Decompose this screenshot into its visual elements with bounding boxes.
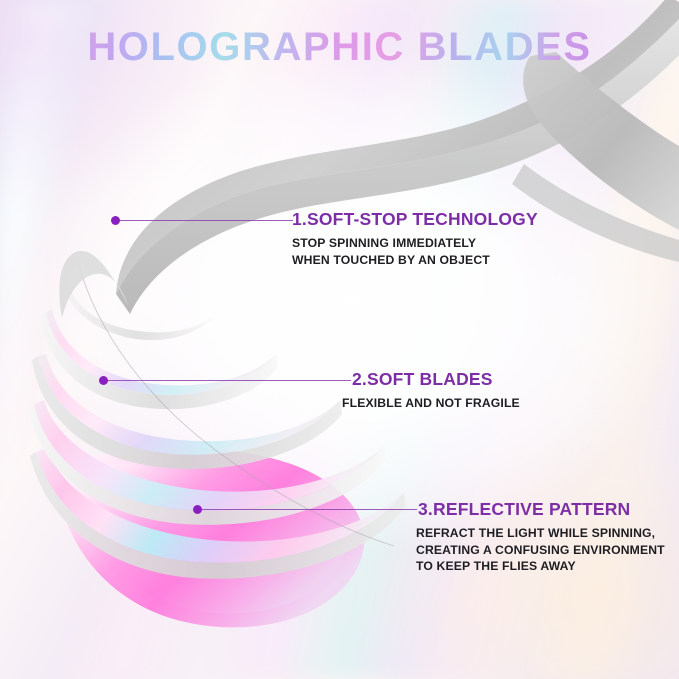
callout-1-body: STOP SPINNING IMMEDIATELY WHEN TOUCHED B… xyxy=(292,235,538,268)
callout-1: 1.SOFT-STOP TECHNOLOGY STOP SPINNING IMM… xyxy=(292,210,538,268)
leader-line-1-stroke xyxy=(115,220,293,221)
callout-3-title: 3.REFLECTIVE PATTERN xyxy=(418,500,665,519)
leader-line-3-stroke xyxy=(197,509,417,510)
callout-1-body-line-1: STOP SPINNING IMMEDIATELY xyxy=(292,235,538,251)
callout-3-body-line-2: CREATING A CONFUSING ENVIRONMENT xyxy=(416,542,665,558)
callout-1-title: 1.SOFT-STOP TECHNOLOGY xyxy=(292,210,538,229)
leader-line-2-stroke xyxy=(103,380,351,381)
holographic-blade-artwork xyxy=(0,0,679,679)
leader-dot-3 xyxy=(193,505,202,514)
page-title: HOLOGRAPHIC BLADES xyxy=(0,27,679,67)
callout-2-title: 2.SOFT BLADES xyxy=(352,370,520,389)
leader-dot-2 xyxy=(99,376,108,385)
callout-2-body: FLEXIBLE AND NOT FRAGILE xyxy=(342,395,520,411)
callout-3-body: REFRACT THE LIGHT WHILE SPINNING, CREATI… xyxy=(416,525,665,574)
leader-dot-1 xyxy=(111,216,120,225)
callout-3-body-line-3: TO KEEP THE FLIES AWAY xyxy=(416,558,665,574)
holographic-blades-poster: HOLOGRAPHIC BLADES 1.SOFT-STOP TECHNOLOG… xyxy=(0,0,679,679)
callout-3-body-line-1: REFRACT THE LIGHT WHILE SPINNING, xyxy=(416,525,665,541)
callout-1-body-line-2: WHEN TOUCHED BY AN OBJECT xyxy=(292,252,538,268)
callout-3: 3.REFLECTIVE PATTERN REFRACT THE LIGHT W… xyxy=(418,500,665,574)
callout-2: 2.SOFT BLADES FLEXIBLE AND NOT FRAGILE xyxy=(352,370,520,412)
callout-2-body-line-1: FLEXIBLE AND NOT FRAGILE xyxy=(342,395,520,411)
